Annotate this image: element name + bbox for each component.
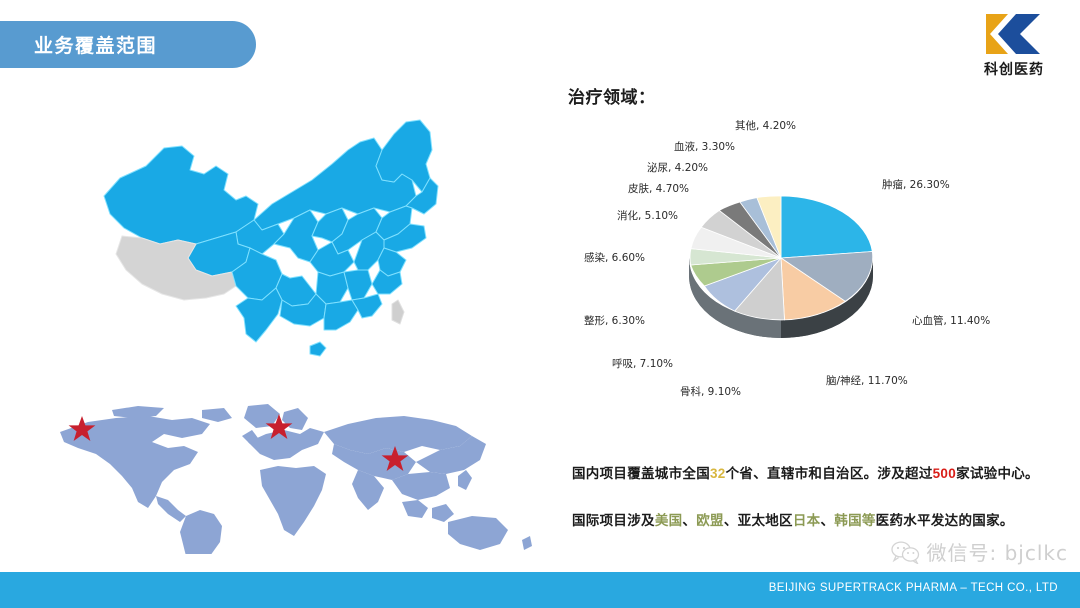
intl-region-usa: 美国: [655, 513, 683, 528]
intl-sep-3: 、: [820, 513, 834, 528]
intl-sep-1: 、: [682, 513, 696, 528]
pie-label-皮肤: 皮肤, 4.70%: [628, 181, 689, 196]
pie-label-泌尿: 泌尿, 4.20%: [647, 160, 708, 175]
pie-slices: [690, 196, 873, 320]
pie-label-感染: 感染, 6.60%: [584, 250, 645, 265]
logo-k-mark-icon: [984, 12, 1044, 56]
intl-region-japan: 日本: [793, 513, 821, 528]
intl-sep-2: 、亚太地区: [724, 513, 793, 528]
logo-k-icon: [984, 12, 1044, 56]
slide-root: 业务覆盖范围 科创医药: [0, 0, 1080, 608]
pie-label-骨科: 骨科, 9.10%: [680, 384, 741, 399]
pie-label-整形: 整形, 6.30%: [584, 313, 645, 328]
world-map: [52, 404, 552, 554]
pie-label-脑神经: 脑/神经, 11.70%: [826, 373, 908, 388]
footer-company-name: BEIJING SUPERTRACK PHARMA – TECH CO., LT…: [769, 582, 1058, 594]
china-map: [86, 108, 446, 408]
intl-region-eu: 欧盟: [696, 513, 724, 528]
pie-label-心血管: 心血管, 11.40%: [912, 313, 990, 328]
pie-label-其他: 其他, 4.20%: [735, 118, 796, 133]
wechat-icon: [890, 540, 920, 564]
chart-title: 治疗领域：: [568, 83, 656, 108]
pie-label-呼吸: 呼吸, 7.10%: [612, 356, 673, 371]
intl-text-part2: 医药水平发达的国家。: [876, 513, 1014, 528]
pie-slice-肿瘤: [781, 196, 872, 258]
wechat-watermark: 微信号: bjclkc: [890, 537, 1068, 566]
logo-text: 科创医药: [966, 59, 1062, 79]
page-title-banner: 业务覆盖范围: [0, 21, 256, 68]
pie-label-血液: 血液, 3.30%: [674, 139, 735, 154]
page-title: 业务覆盖范围: [34, 31, 157, 58]
domestic-text-part2: 个省、直辖市和自治区。涉及超过: [726, 466, 933, 481]
company-logo: 科创医药: [966, 12, 1062, 82]
world-map-svg: [52, 404, 552, 554]
intl-text-part1: 国际项目涉及: [572, 513, 655, 528]
intl-region-korea: 韩国等: [834, 513, 875, 528]
pie-label-肿瘤: 肿瘤, 26.30%: [882, 177, 950, 192]
domestic-coverage-text: 国内项目覆盖城市全国32个省、直辖市和自治区。涉及超过500家试验中心。: [572, 462, 1039, 482]
china-map-svg: [86, 108, 446, 408]
domestic-province-count: 32: [710, 466, 726, 481]
therapeutic-areas-pie-chart: 其他, 4.20% 血液, 3.30% 泌尿, 4.20% 皮肤, 4.70% …: [560, 108, 1080, 408]
pie-label-消化: 消化, 5.10%: [617, 208, 678, 223]
domestic-site-count: 500: [933, 466, 956, 481]
wechat-id-text: 微信号: bjclkc: [927, 537, 1068, 566]
domestic-text-part1: 国内项目覆盖城市全国: [572, 466, 710, 481]
international-coverage-text: 国际项目涉及美国、欧盟、亚太地区日本、韩国等医药水平发达的国家。: [572, 509, 1014, 529]
footer-bar: BEIJING SUPERTRACK PHARMA – TECH CO., LT…: [0, 572, 1080, 608]
domestic-text-part3: 家试验中心。: [956, 466, 1039, 481]
